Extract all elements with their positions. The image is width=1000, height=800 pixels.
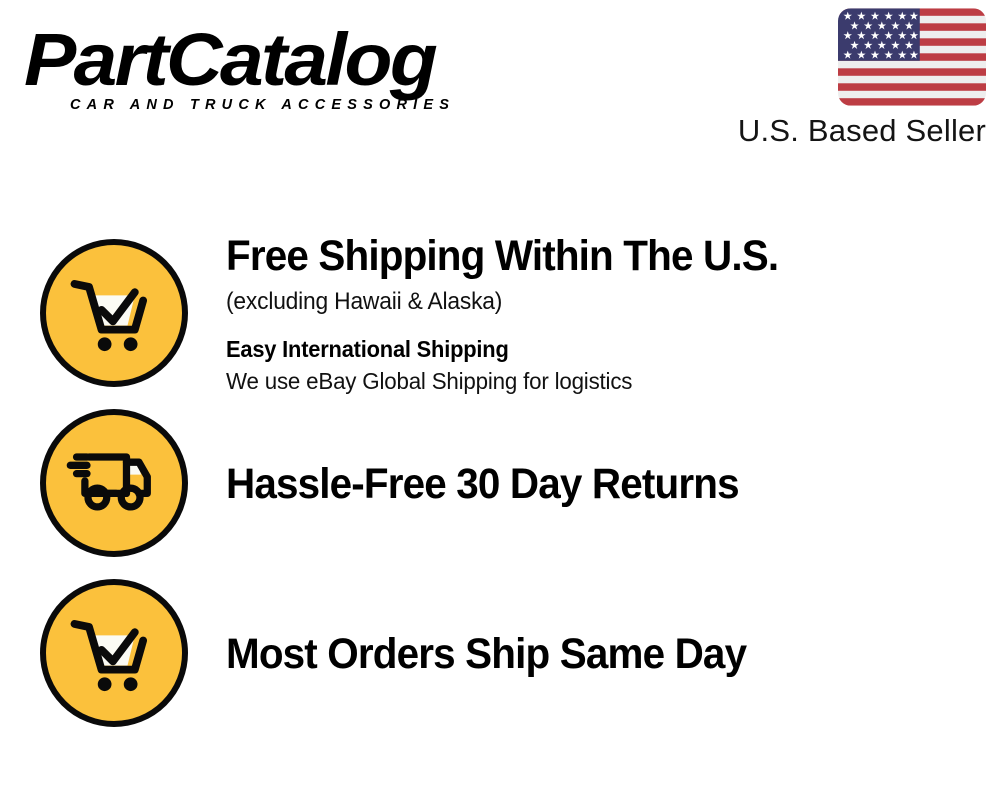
banner-header: PartCatalog CAR AND TRUCK ACCESSORIES bbox=[0, 0, 1000, 175]
feature-subtitle: (excluding Hawaii & Alaska) bbox=[226, 287, 933, 317]
fast-delivery-truck-icon bbox=[40, 409, 188, 557]
us-flag-icon bbox=[838, 8, 986, 106]
feature-secondary-title: Easy International Shipping bbox=[226, 335, 933, 364]
shopping-cart-check-icon bbox=[40, 239, 188, 387]
feature-text: Free Shipping Within The U.S. (excluding… bbox=[188, 229, 970, 396]
feature-title: Hassle-Free 30 Day Returns bbox=[226, 459, 925, 509]
feature-text: Most Orders Ship Same Day bbox=[188, 627, 970, 679]
feature-text: Hassle-Free 30 Day Returns bbox=[188, 457, 970, 509]
feature-row: Most Orders Ship Same Day bbox=[40, 575, 970, 730]
feature-row: Hassle-Free 30 Day Returns bbox=[40, 405, 970, 560]
brand-logo[interactable]: PartCatalog CAR AND TRUCK ACCESSORIES bbox=[24, 18, 494, 123]
brand-tagline: CAR AND TRUCK ACCESSORIES bbox=[70, 96, 455, 114]
feature-title: Free Shipping Within The U.S. bbox=[226, 231, 925, 281]
feature-secondary-body: We use eBay Global Shipping for logistic… bbox=[226, 366, 933, 396]
us-based-seller-label: U.S. Based Seller bbox=[714, 113, 986, 149]
banner-page: PartCatalog CAR AND TRUCK ACCESSORIES bbox=[0, 0, 1000, 800]
shopping-cart-check-icon bbox=[40, 579, 188, 727]
feature-title: Most Orders Ship Same Day bbox=[226, 629, 925, 679]
feature-row: Free Shipping Within The U.S. (excluding… bbox=[40, 225, 970, 400]
us-based-seller-badge: U.S. Based Seller bbox=[714, 8, 986, 149]
brand-wordmark: PartCatalog bbox=[24, 18, 435, 102]
